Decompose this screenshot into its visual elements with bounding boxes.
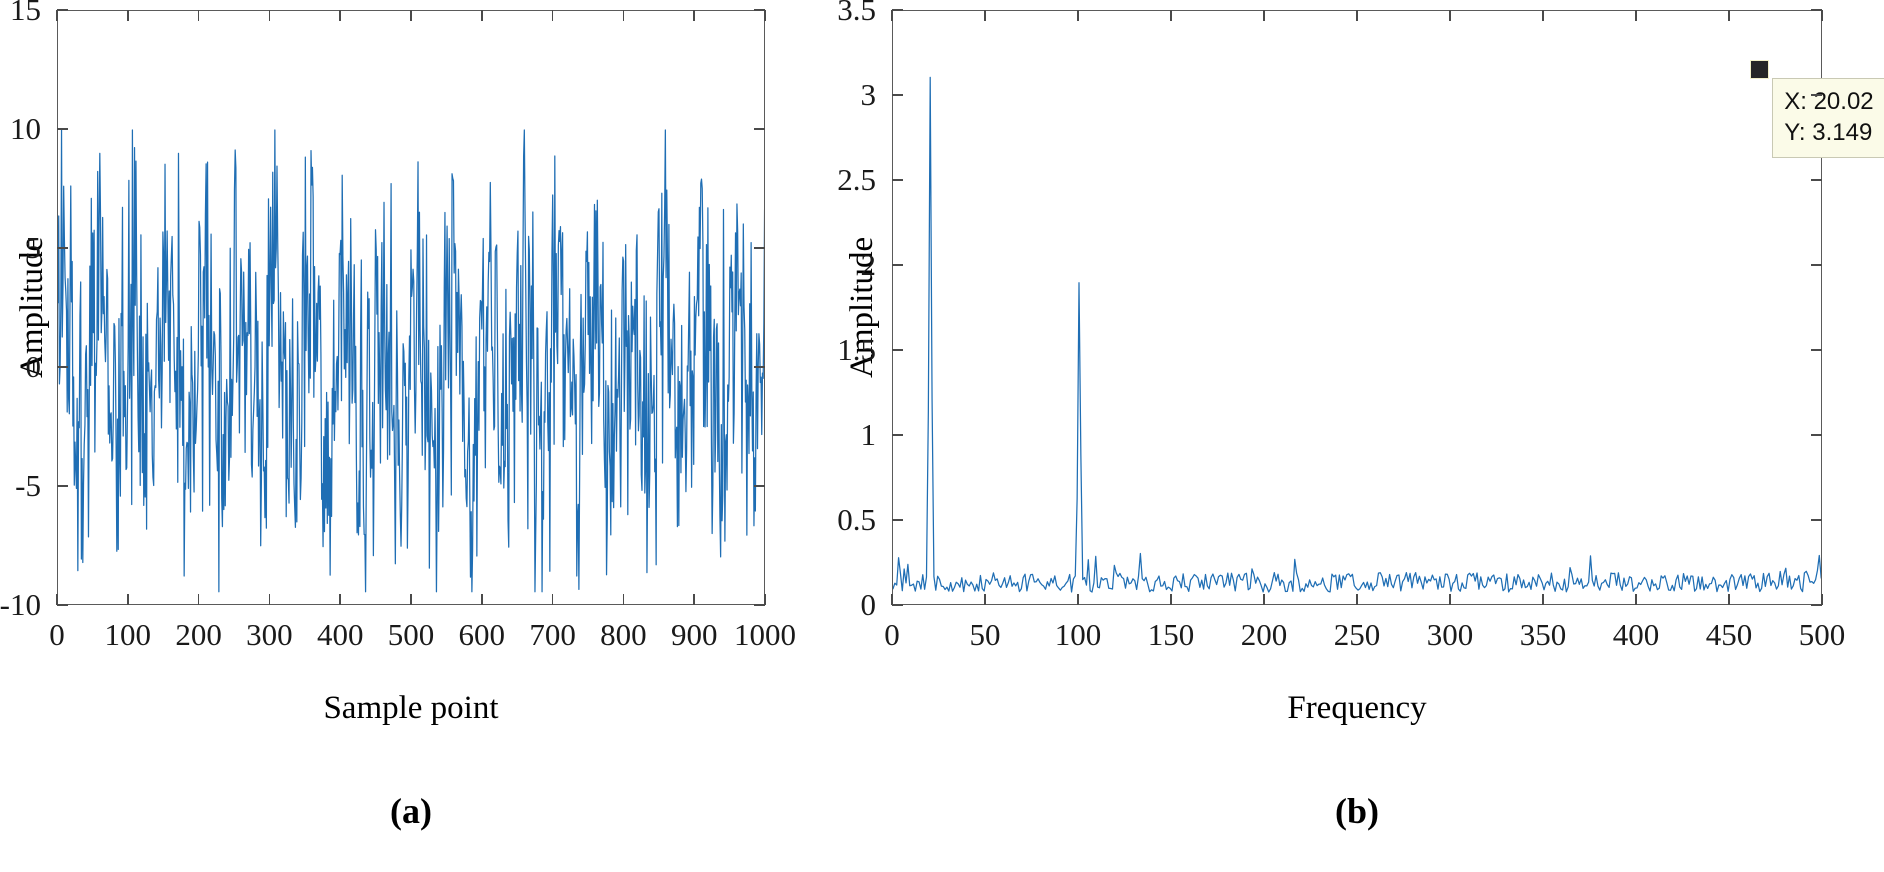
datatip-marker-peak-1[interactable] — [1750, 60, 1769, 79]
y-tick-mark — [892, 434, 903, 436]
x-tick-mark — [1356, 594, 1358, 605]
x-tick-label: 600 — [459, 617, 506, 653]
x-tick-mark — [693, 594, 695, 605]
y-tick-label: 0 — [746, 587, 876, 623]
y-tick-label: 1.5 — [746, 332, 876, 368]
figure-canvas: Amplitude Sample point (a) Amplitude Fre… — [0, 0, 1884, 872]
y-tick-mark — [892, 9, 903, 11]
x-tick-label: 100 — [1055, 617, 1102, 653]
x-tick-label: 100 — [105, 617, 152, 653]
x-tick-label: 300 — [1427, 617, 1474, 653]
subfigure-caption-b: (b) — [1257, 790, 1457, 832]
x-tick-mark-top — [410, 10, 412, 21]
x-axis-label-a: Sample point — [211, 690, 611, 727]
plot-area-b — [892, 10, 1822, 605]
x-tick-mark-top — [1263, 10, 1265, 21]
y-tick-mark — [892, 349, 903, 351]
x-tick-mark — [623, 594, 625, 605]
y-tick-mark — [892, 264, 903, 266]
datatip-peak-1[interactable]: X: 20.02 Y: 3.149 — [1772, 78, 1884, 158]
y-tick-mark — [892, 519, 903, 521]
x-tick-mark — [1821, 594, 1823, 605]
y-tick-label: 2.5 — [746, 162, 876, 198]
x-tick-mark — [339, 594, 341, 605]
y-tick-mark-right — [754, 485, 765, 487]
x-tick-mark-top — [623, 10, 625, 21]
x-tick-label: 150 — [1148, 617, 1195, 653]
x-tick-mark — [1728, 594, 1730, 605]
x-tick-mark-top — [693, 10, 695, 21]
x-tick-mark-top — [198, 10, 200, 21]
x-tick-label: 300 — [246, 617, 293, 653]
spectrum-plot-b — [893, 11, 1821, 604]
y-tick-mark-right — [1811, 94, 1822, 96]
x-tick-mark-top — [1635, 10, 1637, 21]
x-tick-mark — [1449, 594, 1451, 605]
x-tick-mark-top — [1821, 10, 1823, 21]
x-tick-mark-top — [1170, 10, 1172, 21]
x-tick-mark — [198, 594, 200, 605]
y-tick-mark-right — [1811, 349, 1822, 351]
x-tick-mark-top — [127, 10, 129, 21]
y-tick-label: 0.5 — [746, 502, 876, 538]
x-tick-label: 450 — [1706, 617, 1753, 653]
x-tick-mark — [891, 594, 893, 605]
x-tick-label: 0 — [884, 617, 900, 653]
time-series-svg — [58, 11, 764, 604]
x-tick-label: 700 — [529, 617, 576, 653]
y-tick-mark-right — [1811, 519, 1822, 521]
x-axis-label-b: Frequency — [1157, 690, 1557, 727]
y-tick-mark — [57, 247, 68, 249]
x-tick-label: 400 — [317, 617, 364, 653]
y-tick-label: -5 — [0, 468, 41, 504]
x-tick-mark — [1542, 594, 1544, 605]
x-tick-label: 800 — [600, 617, 647, 653]
y-tick-label: 5 — [0, 230, 41, 266]
datatip-y-value-1: Y: 3.149 — [1784, 117, 1873, 149]
x-tick-mark — [56, 594, 58, 605]
datatip-x-value-1: X: 20.02 — [1784, 86, 1873, 118]
x-tick-mark — [269, 594, 271, 605]
x-tick-mark-top — [269, 10, 271, 21]
x-tick-mark-top — [1728, 10, 1730, 21]
x-tick-mark — [984, 594, 986, 605]
spectrum-line — [893, 77, 1821, 592]
x-tick-mark-top — [984, 10, 986, 21]
y-tick-label: 3.5 — [746, 0, 876, 28]
x-tick-label: 250 — [1334, 617, 1381, 653]
x-tick-mark-top — [1542, 10, 1544, 21]
x-tick-mark-top — [339, 10, 341, 21]
y-tick-label: 10 — [0, 111, 41, 147]
panel-b: Amplitude Frequency (b) X: 20.02 Y: 3.14… — [830, 0, 1884, 872]
y-tick-mark — [57, 9, 68, 11]
y-tick-mark-right — [754, 128, 765, 130]
y-tick-mark — [892, 179, 903, 181]
subfigure-caption-a: (a) — [311, 790, 511, 832]
x-tick-label: 350 — [1520, 617, 1567, 653]
y-tick-label: 0 — [0, 349, 41, 385]
x-tick-mark-top — [891, 10, 893, 21]
x-tick-mark — [1635, 594, 1637, 605]
x-tick-mark — [1263, 594, 1265, 605]
x-tick-label: 200 — [175, 617, 222, 653]
x-tick-mark-top — [1356, 10, 1358, 21]
y-tick-mark — [57, 604, 68, 606]
x-tick-mark — [552, 594, 554, 605]
y-tick-mark-right — [1811, 434, 1822, 436]
x-tick-mark-top — [552, 10, 554, 21]
x-tick-label: 0 — [49, 617, 65, 653]
y-tick-mark — [57, 366, 68, 368]
x-tick-mark-top — [1077, 10, 1079, 21]
plot-area-a — [57, 10, 765, 605]
x-tick-mark — [410, 594, 412, 605]
spectrum-svg — [893, 11, 1821, 604]
x-tick-label: 500 — [388, 617, 435, 653]
x-tick-mark — [1170, 594, 1172, 605]
y-tick-label: -10 — [0, 587, 41, 623]
x-tick-label: 900 — [671, 617, 718, 653]
y-tick-mark — [892, 604, 903, 606]
x-tick-mark — [127, 594, 129, 605]
y-tick-label: 15 — [0, 0, 41, 28]
panel-a: Amplitude Sample point (a) — [0, 0, 800, 872]
signal-plot-a — [58, 11, 764, 604]
x-tick-label: 500 — [1799, 617, 1846, 653]
x-tick-mark — [481, 594, 483, 605]
y-tick-mark-right — [1811, 264, 1822, 266]
time-series-line — [58, 130, 764, 592]
y-tick-label: 2 — [746, 247, 876, 283]
y-tick-mark — [892, 94, 903, 96]
x-tick-mark — [1077, 594, 1079, 605]
y-tick-mark — [57, 485, 68, 487]
x-tick-label: 50 — [970, 617, 1001, 653]
y-tick-label: 3 — [746, 77, 876, 113]
x-tick-mark-top — [56, 10, 58, 21]
x-tick-mark-top — [481, 10, 483, 21]
y-tick-mark — [57, 128, 68, 130]
x-tick-label: 200 — [1241, 617, 1288, 653]
x-tick-label: 400 — [1613, 617, 1660, 653]
y-tick-mark-right — [1811, 179, 1822, 181]
y-tick-label: 1 — [746, 417, 876, 453]
x-tick-mark-top — [1449, 10, 1451, 21]
